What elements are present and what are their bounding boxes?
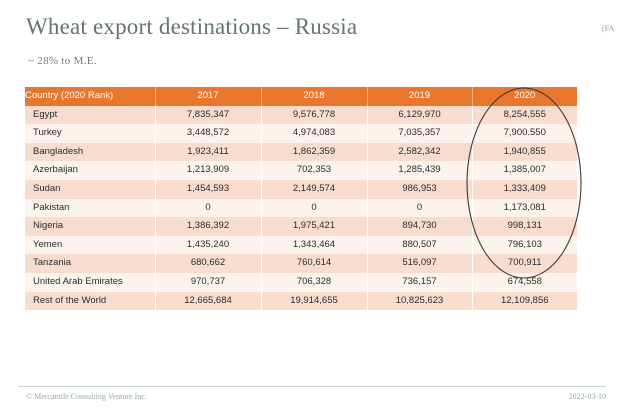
cell-value: 12,665,684: [155, 292, 261, 311]
cell-value: 706,328: [261, 273, 367, 292]
cell-country: Nigeria: [25, 217, 155, 236]
cell-value: 1,862,359: [261, 143, 367, 162]
cell-value: 986,953: [367, 180, 472, 199]
export-data-table-container: Country (2020 Rank) 2017 2018 2019 2020 …: [25, 87, 577, 310]
cell-value: 7,900.550: [472, 124, 577, 143]
table-row: Pakistan0001,173,081: [25, 199, 577, 218]
cell-value: 516,097: [367, 254, 472, 273]
table-body: Egypt7,835,3479,576,7786,129,9708,254,55…: [25, 106, 577, 311]
cell-value: 1,454,593: [155, 180, 261, 199]
cell-value: 1,435,240: [155, 236, 261, 255]
cell-value: 0: [367, 199, 472, 218]
column-header-2019: 2019: [367, 87, 472, 106]
cell-value: 970,737: [155, 273, 261, 292]
cell-value: 1,213,909: [155, 161, 261, 180]
cell-country: Pakistan: [25, 199, 155, 218]
cell-country: United Arab Emirates: [25, 273, 155, 292]
cell-value: 1,385,007: [472, 161, 577, 180]
cell-value: 1,173,081: [472, 199, 577, 218]
footer-date: 2022-03-10: [569, 392, 606, 401]
column-header-2020: 2020: [472, 87, 577, 106]
cell-value: 7,035,357: [367, 124, 472, 143]
cell-value: 6,129,970: [367, 106, 472, 125]
cell-value: 1,343,464: [261, 236, 367, 255]
table-row: Egypt7,835,3479,576,7786,129,9708,254,55…: [25, 106, 577, 125]
table-header-row: Country (2020 Rank) 2017 2018 2019 2020: [25, 87, 577, 106]
cell-value: 702,353: [261, 161, 367, 180]
cell-value: 796,103: [472, 236, 577, 255]
cell-value: 3,448,572: [155, 124, 261, 143]
cell-value: 19,914,655: [261, 292, 367, 311]
footer-divider: [18, 386, 606, 387]
cell-country: Tanzania: [25, 254, 155, 273]
column-header-2018: 2018: [261, 87, 367, 106]
table-row: Sudan1,454,5932,149,574986,9531,333,409: [25, 180, 577, 199]
table-row: Azerbaijan1,213,909702,3531,285,4391,385…: [25, 161, 577, 180]
cell-value: 736,157: [367, 273, 472, 292]
cell-value: 998,131: [472, 217, 577, 236]
cell-value: 12,109,856: [472, 292, 577, 311]
cell-value: 1,333,409: [472, 180, 577, 199]
cell-value: 0: [261, 199, 367, 218]
cell-value: 10,825,623: [367, 292, 472, 311]
cell-country: Rest of the World: [25, 292, 155, 311]
cell-value: 680,662: [155, 254, 261, 273]
cell-country: Turkey: [25, 124, 155, 143]
cell-country: Azerbaijan: [25, 161, 155, 180]
cell-value: 2,582,342: [367, 143, 472, 162]
cell-value: 760,614: [261, 254, 367, 273]
table-row: United Arab Emirates970,737706,328736,15…: [25, 273, 577, 292]
cell-value: 1,940,855: [472, 143, 577, 162]
cell-value: 1,923,411: [155, 143, 261, 162]
page-title: Wheat export destinations – Russia: [26, 14, 357, 40]
cell-value: 700,911: [472, 254, 577, 273]
cell-country: Egypt: [25, 106, 155, 125]
cell-value: 1,975,421: [261, 217, 367, 236]
column-header-2017: 2017: [155, 87, 261, 106]
cell-country: Bangladesh: [25, 143, 155, 162]
column-header-country: Country (2020 Rank): [25, 87, 155, 106]
footer-copyright: © Mercantile Consulting Venture Inc.: [26, 392, 147, 401]
cell-value: 2,149,574: [261, 180, 367, 199]
cell-value: 1,285,439: [367, 161, 472, 180]
table-row: Bangladesh1,923,4111,862,3592,582,3421,9…: [25, 143, 577, 162]
table-row: Nigeria1,386,3921,975,421894,730998,131: [25, 217, 577, 236]
table-header: Country (2020 Rank) 2017 2018 2019 2020: [25, 87, 577, 106]
cell-value: 0: [155, 199, 261, 218]
cell-value: 4,974,083: [261, 124, 367, 143]
cell-value: 9,576,778: [261, 106, 367, 125]
subtitle: ~ 28% to M.E.: [28, 55, 97, 67]
slide-canvas: Wheat export destinations – Russia (FA ~…: [0, 0, 624, 412]
cell-value: 674,558: [472, 273, 577, 292]
source-note: (FA: [602, 24, 620, 33]
table-row: Tanzania680,662760,614516,097700,911: [25, 254, 577, 273]
cell-country: Yemen: [25, 236, 155, 255]
cell-value: 7,835,347: [155, 106, 261, 125]
table-row: Yemen1,435,2401,343,464880,507796,103: [25, 236, 577, 255]
table-row: Rest of the World12,665,68419,914,65510,…: [25, 292, 577, 311]
cell-value: 894,730: [367, 217, 472, 236]
cell-value: 1,386,392: [155, 217, 261, 236]
cell-country: Sudan: [25, 180, 155, 199]
cell-value: 880,507: [367, 236, 472, 255]
export-data-table: Country (2020 Rank) 2017 2018 2019 2020 …: [25, 87, 577, 310]
table-row: Turkey3,448,5724,974,0837,035,3577,900.5…: [25, 124, 577, 143]
cell-value: 8,254,555: [472, 106, 577, 125]
